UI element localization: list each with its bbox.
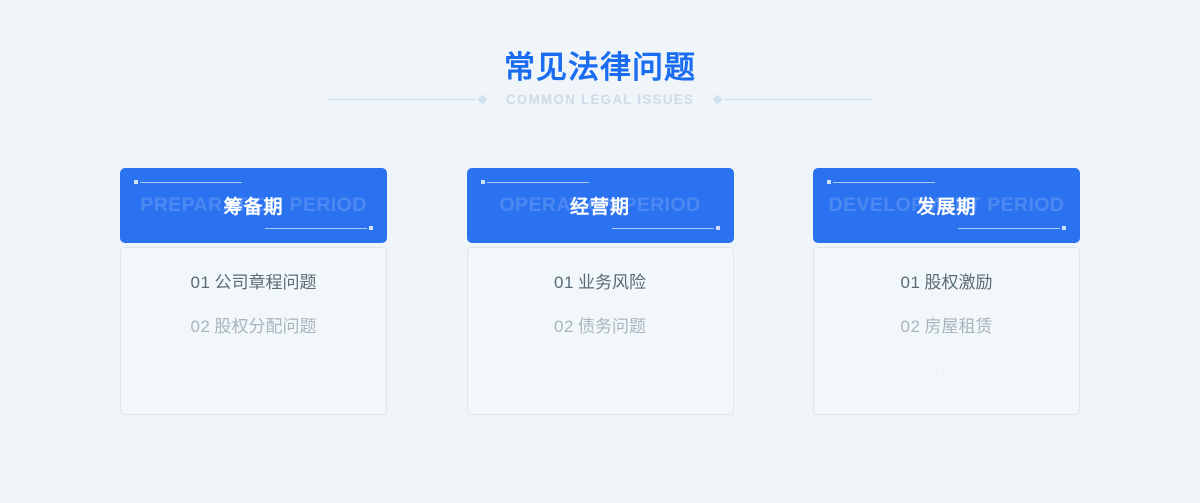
list-item-number: 02: [901, 317, 921, 336]
list-item[interactable]: 01业务风险: [468, 272, 733, 316]
list-item-label: 业务风险: [578, 273, 646, 292]
list-item[interactable]: 02股权分配问题: [121, 316, 386, 360]
period-card-development[interactable]: DEVELOPMENT PERIOD 发展期 01股权激励 02房屋租赁 ···…: [813, 168, 1080, 415]
list-item[interactable]: 02债务问题: [468, 316, 733, 360]
list-item[interactable]: 01公司章程问题: [121, 272, 386, 316]
subtitle-row: COMMON LEGAL ISSUES: [0, 92, 1200, 107]
list-item: ······: [814, 360, 1079, 404]
card-header: PREPARATION PERIOD 筹备期: [120, 168, 387, 243]
period-card-operation[interactable]: OPERATION PERIOD 经营期 01业务风险 02债务问题 ·····…: [467, 168, 734, 415]
card-body: 01业务风险 02债务问题 ······: [467, 247, 734, 415]
list-item-label: 房屋租赁: [924, 317, 992, 336]
card-body: 01公司章程问题 02股权分配问题: [120, 247, 387, 415]
list-item-label: ······: [580, 363, 624, 378]
card-title: 发展期: [813, 168, 1080, 243]
card-body: 01股权激励 02房屋租赁 ······: [813, 247, 1080, 415]
card-title: 筹备期: [120, 168, 387, 243]
list-item-number: 01: [554, 273, 574, 292]
list-item-number: 02: [191, 317, 211, 336]
list-item[interactable]: 02房屋租赁: [814, 316, 1079, 360]
list-item-number: 01: [191, 273, 211, 292]
list-item[interactable]: 01股权激励: [814, 272, 1079, 316]
page-title: 常见法律问题: [0, 48, 1200, 88]
list-item-label: 债务问题: [578, 317, 646, 336]
card-list: PREPARATION PERIOD 筹备期 01公司章程问题 02股权分配问题…: [120, 168, 1080, 415]
list-item-number: 02: [554, 317, 574, 336]
page-header: 常见法律问题 COMMON LEGAL ISSUES: [0, 0, 1200, 140]
page-subtitle: COMMON LEGAL ISSUES: [506, 92, 694, 107]
divider-line-left-icon: [328, 94, 488, 105]
period-card-preparation[interactable]: PREPARATION PERIOD 筹备期 01公司章程问题 02股权分配问题: [120, 168, 387, 415]
card-header: OPERATION PERIOD 经营期: [467, 168, 734, 243]
list-item: ······: [468, 360, 733, 404]
card-title: 经营期: [467, 168, 734, 243]
list-item-label: 公司章程问题: [214, 273, 316, 292]
card-header: DEVELOPMENT PERIOD 发展期: [813, 168, 1080, 243]
divider-line-right-icon: [712, 94, 872, 105]
list-item-number: 01: [901, 273, 921, 292]
list-item-label: 股权分配问题: [214, 317, 316, 336]
list-item-label: 股权激励: [924, 273, 992, 292]
list-item-label: ······: [927, 363, 971, 378]
list-item: [121, 360, 386, 404]
